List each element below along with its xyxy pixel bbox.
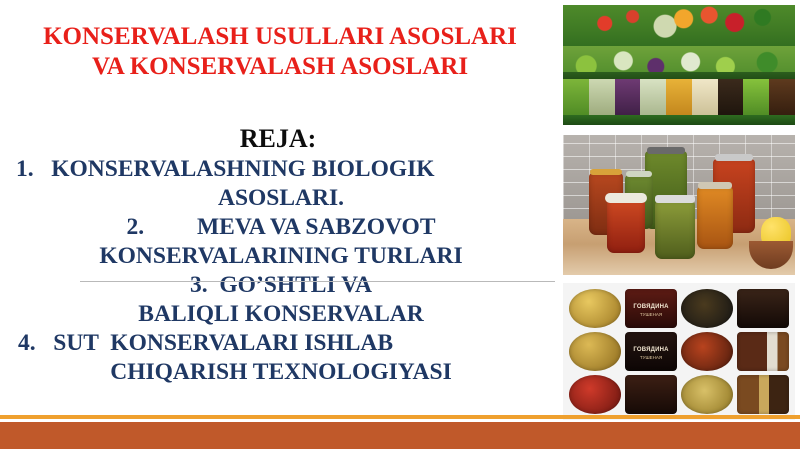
jar-lid — [655, 195, 695, 203]
list-item: ASOSLARI. — [8, 184, 554, 213]
horizontal-divider — [80, 281, 555, 282]
slide-text-column: KONSERVALASH USULLARI ASOSLARI VA KONSER… — [0, 0, 556, 418]
can-label-dark-2 — [625, 375, 677, 414]
canned-meat-photo: ГОВЯДИНА ТУШЕНАЯ ГОВЯДИНА ТУШЕНАЯ — [563, 283, 795, 420]
produce-stand-base — [563, 115, 795, 125]
can-top-dark-1 — [681, 289, 733, 328]
can-label-title: ГОВЯДИНА — [625, 304, 677, 311]
list-item: KONSERVALARINING TURLARI — [8, 242, 554, 271]
jar-lid — [590, 169, 622, 175]
jar-lid — [698, 182, 732, 189]
vegetable-market-photo — [563, 5, 795, 125]
preserved-jars-photo — [563, 135, 795, 275]
plan-heading: REJA: — [28, 124, 528, 154]
jar-lid — [626, 171, 652, 177]
list-item: 1. KONSERVALASHNING BIOLOGIK — [8, 155, 554, 184]
can-label-sidebar — [737, 332, 789, 371]
can-top-plain-gold — [681, 375, 733, 414]
canned-meat-grid: ГОВЯДИНА ТУШЕНАЯ ГОВЯДИНА ТУШЕНАЯ — [569, 289, 789, 414]
can-label-beef-2: ГОВЯДИНА ТУШЕНАЯ — [625, 332, 677, 371]
produce-bins — [563, 79, 795, 116]
jar-cloth-cover — [605, 193, 647, 203]
can-label-title: ГОВЯДИНА — [625, 347, 677, 354]
can-top-gold-2 — [569, 332, 621, 371]
can-label-subtitle: ТУШЕНАЯ — [625, 312, 677, 318]
presentation-slide: KONSERVALASH USULLARI ASOSLARI VA KONSER… — [0, 0, 800, 449]
vegetable-market-photo-art — [563, 5, 795, 125]
accent-bar-top — [0, 415, 800, 419]
preserved-jars-photo-art — [563, 135, 795, 275]
can-label-tall — [737, 375, 789, 414]
can-top-stew — [681, 332, 733, 371]
jar-lid — [715, 154, 753, 161]
list-item: 3. GO’SHTLI VA — [8, 271, 554, 300]
list-item: BALIQLI KONSERVALAR — [8, 300, 554, 329]
jar-salad-front — [697, 187, 733, 249]
jar-lid — [647, 147, 685, 154]
jar-tomatoes-front — [607, 199, 645, 253]
list-item: 4. SUT KONSERVALARI ISHLAB — [8, 329, 554, 358]
plan-list: 1. KONSERVALASHNING BIOLOGIK ASOSLARI. 2… — [8, 155, 554, 387]
footer-bar — [0, 422, 800, 449]
list-item: 2. MEVA VA SABZOVOT — [8, 213, 554, 242]
list-item: CHIQARISH TEXNOLOGIYASI — [8, 358, 554, 387]
page-title: KONSERVALASH USULLARI ASOSLARI VA KONSER… — [30, 22, 530, 82]
can-label-dark-1 — [737, 289, 789, 328]
can-top-gold — [569, 289, 621, 328]
can-label-subtitle: ТУШЕНАЯ — [625, 355, 677, 361]
can-top-red — [569, 375, 621, 414]
can-label-beef-1: ГОВЯДИНА ТУШЕНАЯ — [625, 289, 677, 328]
jar-pickles-front — [655, 201, 695, 259]
produce-backdrop — [563, 5, 795, 51]
